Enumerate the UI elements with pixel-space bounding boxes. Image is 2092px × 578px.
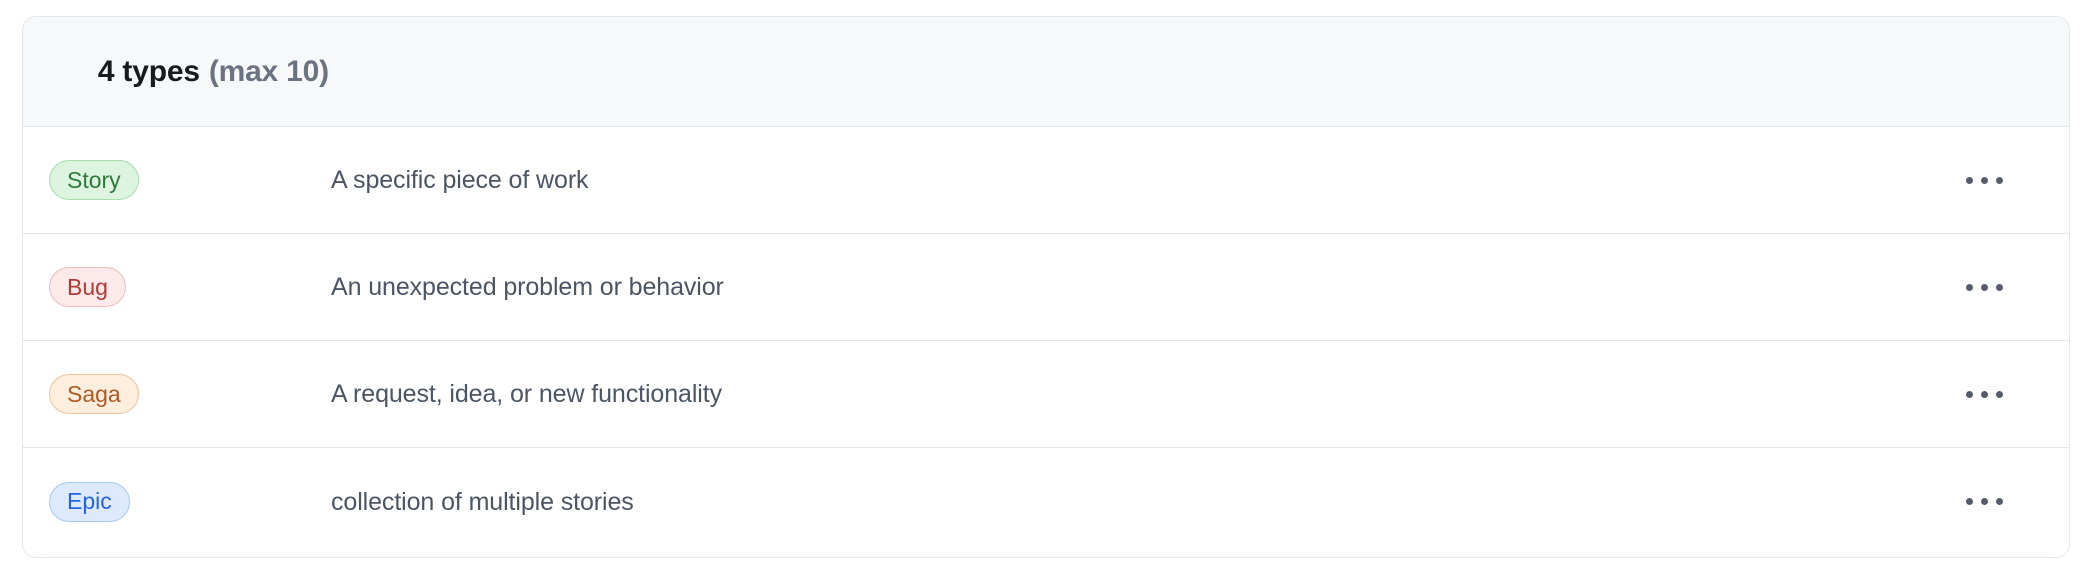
ellipsis-horizontal-icon[interactable] [1955,160,2013,200]
type-description-cell: A request, idea, or new functionality [307,379,1919,409]
row-actions-cell [1919,267,2069,307]
dot [1966,498,1973,505]
status-badge[interactable]: Bug [49,267,126,307]
table-row[interactable]: Bug An unexpected problem or behavior [23,234,2069,341]
issue-types-list: Story A specific piece of work Bug An un… [23,127,2069,555]
types-max-label: (max 10) [209,55,329,88]
card-header: 4 types(max 10) [23,17,2069,127]
type-description: A specific piece of work [331,166,588,194]
dot [1981,284,1988,291]
dot [1966,391,1973,398]
type-badge-cell: Story [23,160,307,200]
ellipsis-horizontal-icon[interactable] [1955,374,2013,414]
ellipsis-horizontal-icon[interactable] [1955,267,2013,307]
type-badge-cell: Saga [23,374,307,414]
dot [1981,391,1988,398]
table-row[interactable]: Story A specific piece of work [23,127,2069,234]
type-description: A request, idea, or new functionality [331,380,722,408]
type-description-cell: A specific piece of work [307,165,1919,195]
type-badge-cell: Bug [23,267,307,307]
status-badge[interactable]: Epic [49,482,130,522]
status-badge[interactable]: Story [49,160,139,200]
dot [1966,284,1973,291]
table-row[interactable]: Epic collection of multiple stories [23,448,2069,555]
issue-types-card: 4 types(max 10) Story A specific piece o… [22,16,2070,558]
dot [1981,498,1988,505]
dot [1966,177,1973,184]
status-badge[interactable]: Saga [49,374,139,414]
type-description-cell: collection of multiple stories [307,487,1919,517]
dot [1996,391,2003,398]
type-description: An unexpected problem or behavior [331,273,724,301]
row-actions-cell [1919,374,2069,414]
row-actions-cell [1919,160,2069,200]
dot [1981,177,1988,184]
type-description: collection of multiple stories [331,488,634,516]
dot [1996,498,2003,505]
row-actions-cell [1919,482,2069,522]
type-description-cell: An unexpected problem or behavior [307,272,1919,302]
types-count-label: 4 types [98,55,200,88]
dot [1996,284,2003,291]
ellipsis-horizontal-icon[interactable] [1955,482,2013,522]
type-badge-cell: Epic [23,482,307,522]
page-title: 4 types(max 10) [49,27,329,117]
dot [1996,177,2003,184]
table-row[interactable]: Saga A request, idea, or new functionali… [23,341,2069,448]
